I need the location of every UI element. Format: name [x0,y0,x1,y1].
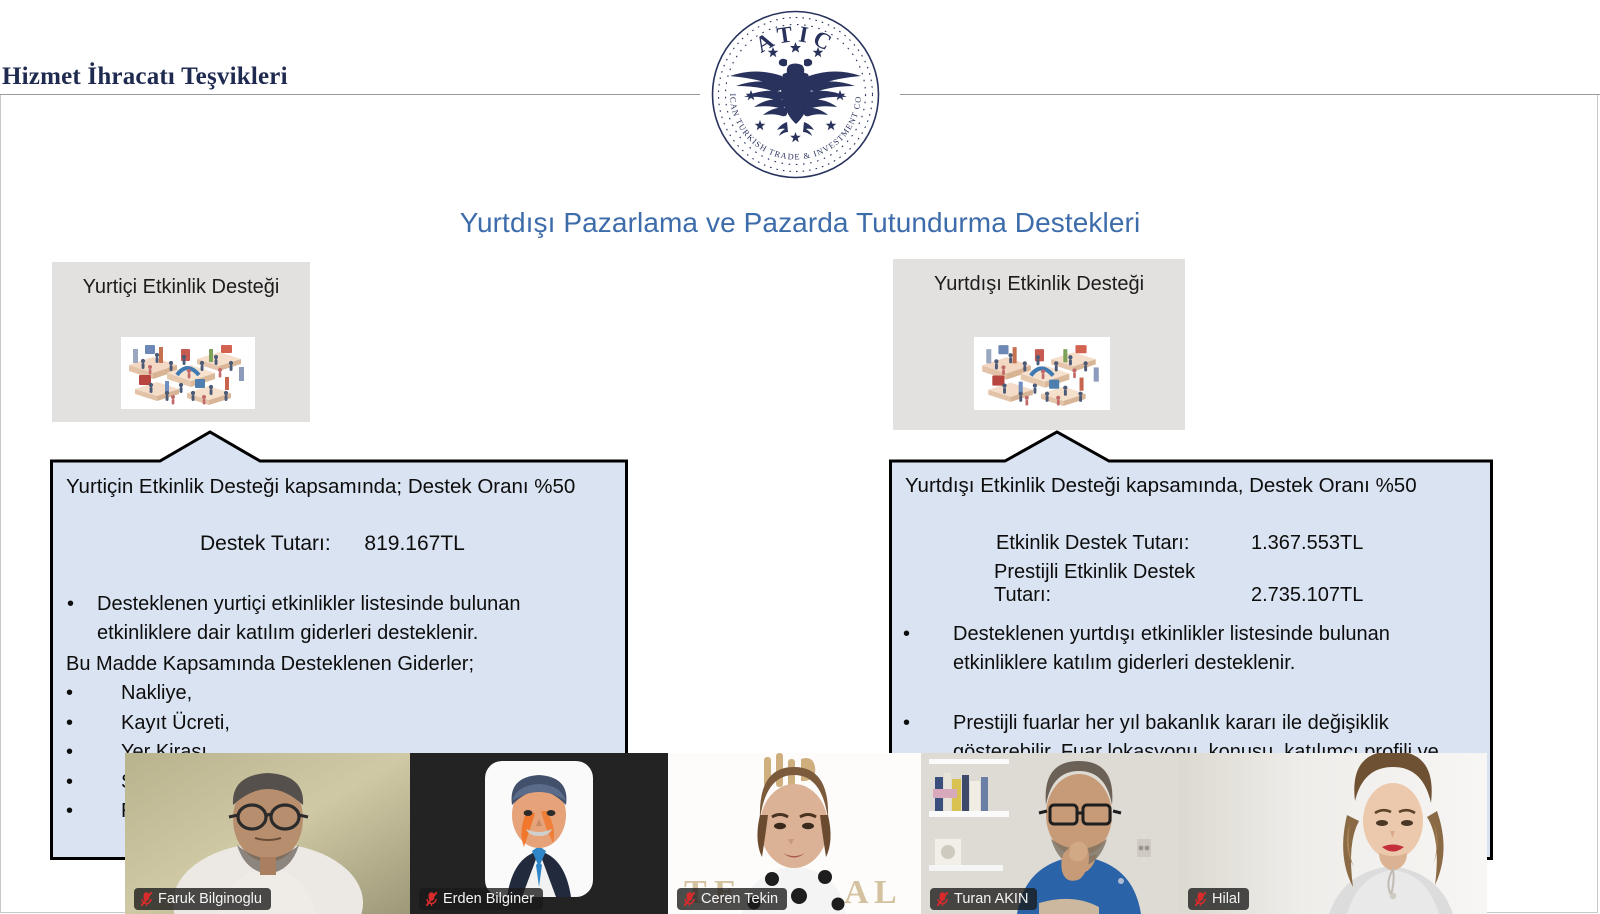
participant-tile-erden-bilginer[interactable]: Erden Bilginer [410,753,668,914]
bullet-line: Desteklenen yurtdışı etkinlikler listesi… [953,623,1390,645]
event-support-amount-row: Etkinlik Destek Tutarı:1.367.553TL [996,532,1363,555]
participant-name-badge: Hilal [1188,888,1249,910]
support-amount-value: 819.167TL [364,532,464,555]
participant-name-badge: Erden Bilginer [419,888,543,910]
list-item-label: Kayıt Ücreti, [121,709,230,739]
bullet-marker: • [66,738,121,768]
callout-heading: Yurtiçin Etkinlik Desteği kapsamında; De… [66,475,575,499]
bullet-marker: • [66,679,121,709]
svg-text:ATIC: ATIC [751,21,839,58]
bullet-line: etkinliklere dair katılım giderleri dest… [97,622,478,644]
bullet-line: Prestijli fuarlar her yıl bakanlık karar… [953,712,1389,734]
bullet-marker: • [66,797,121,827]
callout-subheading: Bu Madde Kapsamında Desteklenen Giderler… [66,650,474,679]
slide-main-title: Yurtdışı Pazarlama ve Pazarda Tutundurma… [0,207,1600,239]
card-yurtici-etkinlik: Yurtiçi Etkinlik Desteği [52,262,310,422]
mic-muted-icon [425,891,438,907]
participant-name: Ceren Tekin [701,891,778,907]
svg-text:L: L [874,874,897,911]
support-amount-row: Destek Tutarı: 819.167TL [200,532,465,556]
mic-muted-icon [936,891,949,907]
bullet-line: Desteklenen yurtiçi etkinlikler listesin… [97,593,521,615]
callout-bullet-1: • Desteklenen yurtiçi etkinlikler listes… [67,590,607,648]
support-amount-label: Destek Tutarı: [200,532,331,555]
participant-name: Faruk Bilginoglu [158,891,262,907]
bullet-text: Desteklenen yurtiçi etkinlikler listesin… [97,590,521,648]
participant-name-badge: Faruk Bilginoglu [134,888,271,910]
card-label: Yurtiçi Etkinlik Desteği [52,276,310,299]
bullet-marker: • [67,590,97,648]
participant-tile-faruk-bilginoglu[interactable]: Faruk Bilginoglu [125,753,410,914]
participant-name: Erden Bilginer [443,891,534,907]
atic-seal-logo: ATIC AMERICAN TURKISH TRADE & INVESTMENT… [703,2,888,187]
video-participant-strip: Faruk Bilginoglu [125,753,1487,914]
prestige-support-amount-label: Prestijli Etkinlik Destek Tutarı: [994,561,1251,607]
bullet-marker: • [66,709,121,739]
list-item: •Nakliye, [66,679,230,709]
event-support-amount-label: Etkinlik Destek Tutarı: [996,532,1251,555]
mic-muted-icon [1194,891,1207,907]
participant-tile-turan-akin[interactable]: Turan AKIN [921,753,1179,914]
participant-tile-ceren-tekin[interactable]: TE AL [668,753,921,914]
card-yurtdisi-etkinlik: Yurtdışı Etkinlik Desteği [893,259,1185,430]
prestige-support-amount-row: Prestijli Etkinlik Destek Tutarı:2.735.1… [994,561,1363,607]
event-support-amount-value: 1.367.553TL [1251,532,1363,554]
prestige-support-amount-value: 2.735.107TL [1251,584,1363,606]
list-item-label: Nakliye, [121,679,192,709]
list-item: •Kayıt Ücreti, [66,709,230,739]
callout-bullet-1: • Desteklenen yurtdışı etkinlikler liste… [903,620,1493,678]
mic-muted-icon [683,891,696,907]
page-title: Hizmet İhracatı Teşvikleri [2,63,288,91]
participant-name: Hilal [1212,891,1240,907]
participant-tile-hilal[interactable]: Hilal [1179,753,1487,914]
participant-name-badge: Ceren Tekin [677,888,787,910]
participant-name-badge: Turan AKIN [930,888,1037,910]
mic-muted-icon [140,891,153,907]
callout-heading: Yurtdışı Etkinlik Desteği kapsamında, De… [905,474,1417,498]
bullet-line: etkinliklere katılım giderleri desteklen… [953,652,1295,674]
svg-text:A: A [844,874,869,911]
header-divider-right [900,94,1600,95]
participant-name: Turan AKIN [954,891,1028,907]
bullet-marker: • [903,620,953,678]
trade-fair-isometric-illustration [121,337,255,409]
header-divider-left [0,94,700,95]
card-label: Yurtdışı Etkinlik Desteği [893,273,1185,296]
trade-fair-isometric-illustration [974,337,1110,410]
bullet-text: Desteklenen yurtdışı etkinlikler listesi… [953,620,1390,678]
bullet-marker: • [66,768,121,798]
